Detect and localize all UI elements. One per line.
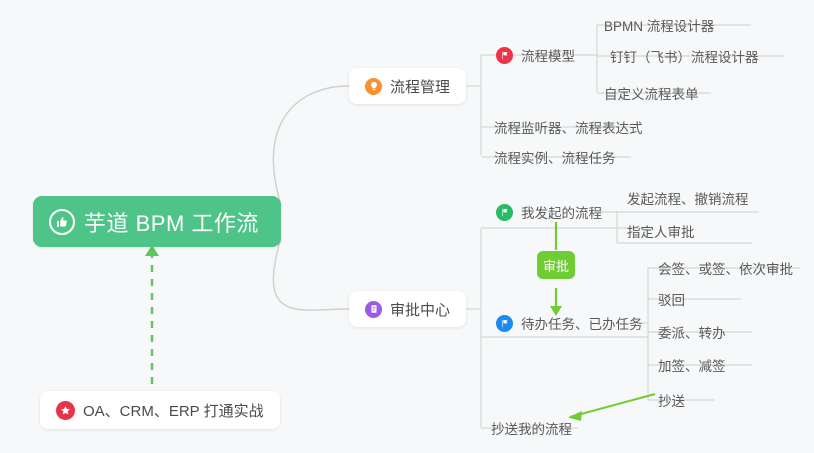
flow-tag-approval: 审批 bbox=[537, 251, 575, 279]
clipboard-icon bbox=[365, 301, 382, 318]
branch-node-process-management[interactable]: 流程管理 bbox=[349, 68, 466, 104]
node-label: 会签、或签、依次审批 bbox=[658, 258, 793, 278]
node-process-model[interactable]: 流程模型 bbox=[492, 42, 582, 68]
node-label: 流程监听器、流程表达式 bbox=[494, 117, 643, 137]
root-label: 芋道 BPM 工作流 bbox=[84, 206, 259, 238]
flag-icon bbox=[496, 315, 513, 332]
node-label: 发起流程、撤销流程 bbox=[627, 188, 749, 208]
node-label: 驳回 bbox=[658, 289, 685, 309]
star-icon bbox=[56, 401, 75, 420]
node-todo-done-tasks[interactable]: 待办任务、已办任务 bbox=[492, 310, 650, 336]
node-label: 我发起的流程 bbox=[521, 202, 602, 222]
node-cc-to-me-process[interactable]: 抄送我的流程 bbox=[487, 415, 579, 441]
node-assigned-approver[interactable]: 指定人审批 bbox=[623, 218, 702, 244]
node-label: 流程模型 bbox=[521, 45, 575, 65]
branch-label: 流程管理 bbox=[390, 76, 450, 97]
node-label: 加签、减签 bbox=[658, 355, 726, 375]
node-add-remove-signer[interactable]: 加签、减签 bbox=[654, 352, 733, 378]
node-process-listener-expression[interactable]: 流程监听器、流程表达式 bbox=[490, 114, 650, 140]
lightbulb-icon bbox=[365, 78, 382, 95]
node-label: BPMN 流程设计器 bbox=[604, 15, 714, 35]
node-bpmn-designer[interactable]: BPMN 流程设计器 bbox=[600, 12, 721, 38]
node-carbon-copy[interactable]: 抄送 bbox=[654, 387, 692, 413]
node-label: 抄送我的流程 bbox=[491, 418, 572, 438]
flag-icon bbox=[496, 204, 513, 221]
node-label: 指定人审批 bbox=[627, 221, 695, 241]
root-node[interactable]: 芋道 BPM 工作流 bbox=[33, 196, 281, 247]
node-label: 流程实例、流程任务 bbox=[494, 147, 616, 167]
branch-node-approval-center[interactable]: 审批中心 bbox=[349, 291, 466, 327]
node-label: 待办任务、已办任务 bbox=[521, 313, 643, 333]
flow-tag-label: 审批 bbox=[543, 256, 569, 275]
node-countersign-orsign-sequential[interactable]: 会签、或签、依次审批 bbox=[654, 255, 800, 281]
node-label: 委派、转办 bbox=[658, 322, 726, 342]
thumbs-up-icon bbox=[49, 209, 75, 235]
node-dingtalk-feishu-designer[interactable]: 钉钉（飞书）流程设计器 bbox=[606, 43, 766, 69]
node-label: 自定义流程表单 bbox=[604, 83, 699, 103]
branch-label: 审批中心 bbox=[390, 299, 450, 320]
flag-icon bbox=[496, 47, 513, 64]
floating-node-label: OA、CRM、ERP 打通实战 bbox=[83, 400, 264, 421]
node-label: 钉钉（飞书）流程设计器 bbox=[610, 46, 759, 66]
node-custom-process-form[interactable]: 自定义流程表单 bbox=[600, 80, 706, 106]
node-reject[interactable]: 驳回 bbox=[654, 286, 692, 312]
node-process-instance-task[interactable]: 流程实例、流程任务 bbox=[490, 144, 623, 170]
node-my-initiated-process[interactable]: 我发起的流程 bbox=[492, 199, 609, 225]
mindmap-canvas: 芋道 BPM 工作流 流程管理 流程模型 BPMN 流程设计器 钉钉（飞书）流程… bbox=[0, 0, 814, 453]
node-label: 抄送 bbox=[658, 390, 685, 410]
floating-node-oa-crm-erp[interactable]: OA、CRM、ERP 打通实战 bbox=[40, 391, 280, 429]
node-delegate-transfer[interactable]: 委派、转办 bbox=[654, 319, 733, 345]
node-start-cancel-process[interactable]: 发起流程、撤销流程 bbox=[623, 185, 756, 211]
